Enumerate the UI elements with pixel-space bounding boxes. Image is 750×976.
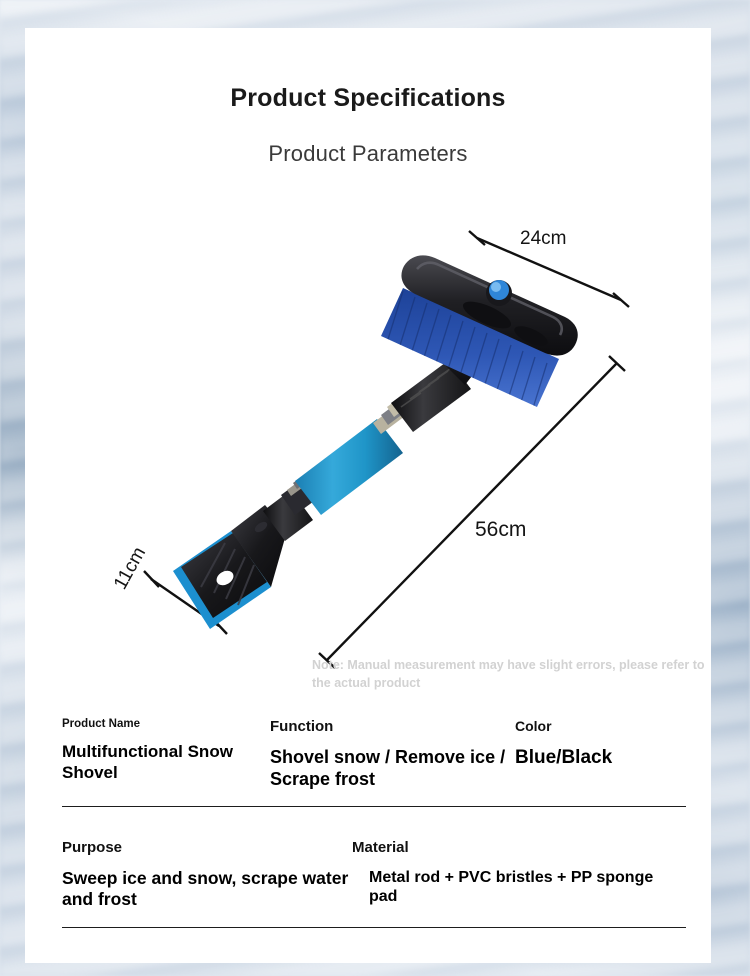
- dimension-label-24cm: 24cm: [520, 228, 566, 250]
- specification-table: Product Name Multifunctional Snow Shovel…: [62, 718, 686, 911]
- pivot-knob: [486, 280, 512, 306]
- spec-value: Sweep ice and snow, scrape water and fro…: [62, 868, 352, 911]
- spec-key: Purpose: [62, 839, 352, 856]
- spec-cell-material: Material Metal rod + PVC bristles + PP s…: [352, 839, 686, 911]
- spec-card: Product Specifications Product Parameter…: [25, 28, 711, 963]
- spec-value: Shovel snow / Remove ice / Scrape frost: [270, 747, 515, 791]
- spec-divider: [62, 806, 686, 807]
- spec-value: Blue/Black: [515, 746, 686, 769]
- spec-row: Product Name Multifunctional Snow Shovel…: [62, 718, 686, 791]
- dimension-label-56cm: 56cm: [475, 518, 526, 542]
- spec-key: Product Name: [62, 718, 270, 730]
- spec-value: Metal rod + PVC bristles + PP sponge pad: [352, 868, 686, 907]
- spec-key: Material: [352, 839, 686, 856]
- dimension-line-56cm: [319, 356, 625, 668]
- spec-cell-function: Function Shovel snow / Remove ice / Scra…: [270, 718, 515, 791]
- measurement-note: Note: Manual measurement may have slight…: [312, 656, 712, 692]
- spec-cell-purpose: Purpose Sweep ice and snow, scrape water…: [62, 839, 352, 911]
- spec-cell-product-name: Product Name Multifunctional Snow Shovel: [62, 718, 270, 791]
- spec-divider: [62, 927, 686, 928]
- product-figure: 24cm 56cm 11cm Note: Manual measurement …: [25, 193, 711, 703]
- ice-scraper: [173, 505, 287, 629]
- spec-key: Color: [515, 718, 686, 734]
- spec-cell-color: Color Blue/Black: [515, 718, 686, 791]
- spec-key: Function: [270, 718, 515, 735]
- page-title: Product Specifications: [25, 84, 711, 113]
- spec-value: Multifunctional Snow Shovel: [62, 742, 270, 783]
- foam-grip: [295, 419, 403, 515]
- spec-row: Purpose Sweep ice and snow, scrape water…: [62, 839, 686, 911]
- page-subtitle: Product Parameters: [25, 141, 711, 167]
